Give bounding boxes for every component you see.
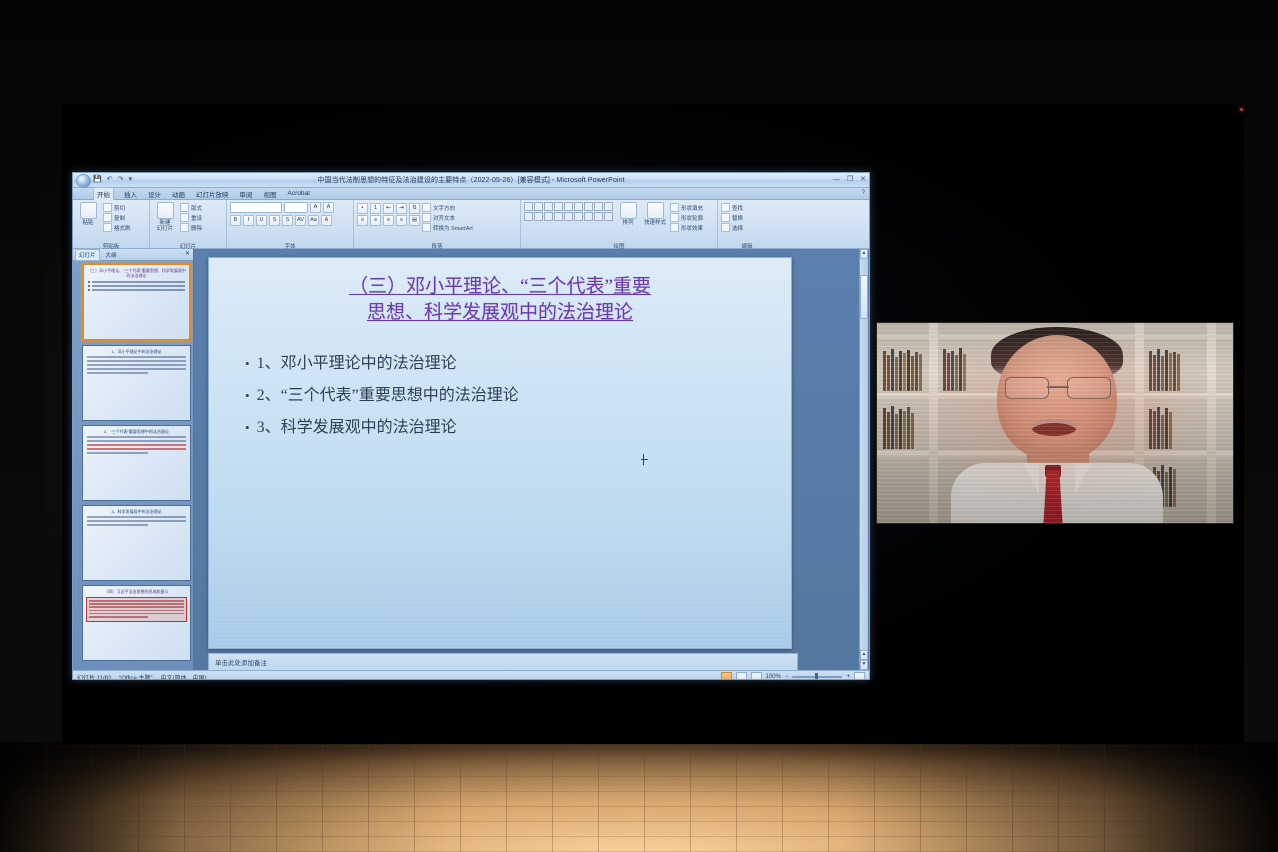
thumbnail-list[interactable]: 11 （三）邓小平理论、“三个代表”重要思想、科学发展观中的法治理论 12 1、… <box>73 260 193 670</box>
font-name-input[interactable] <box>230 202 282 213</box>
shape-curve-icon[interactable] <box>524 212 533 221</box>
text-cursor-icon <box>641 454 648 465</box>
powerpoint-window[interactable]: 💾 ↶ ↷ ▾ 中国当代法制思想的特征及法治建设的主要特点（2022-05-26… <box>72 172 870 680</box>
tab-design[interactable]: 设计 <box>147 189 162 199</box>
zoom-level-label: 100% <box>766 674 781 680</box>
slide-bullet-text: 1、邓小平理论中的法治理论 <box>257 354 457 374</box>
thumbnail-bullet <box>88 281 185 283</box>
cut-label: 剪切 <box>114 204 125 212</box>
window-controls[interactable]: — ❐ ✕ <box>833 174 866 185</box>
vertical-scrollbar[interactable]: ▲ ▲ ▼ <box>859 249 868 670</box>
glasses-left-lens <box>1005 377 1049 399</box>
bullet-dot-icon <box>88 281 90 283</box>
shape-freeform-icon[interactable] <box>534 212 543 221</box>
tab-view[interactable]: 视图 <box>263 189 278 199</box>
status-bar: 幻灯片 11/82 “Office 主题” 中文(简体，中国) 100% − + <box>73 670 869 680</box>
thumbnail-body <box>83 355 190 377</box>
align-text-icon <box>422 213 431 222</box>
ribbon-group-clipboard[interactable]: 粘贴 剪切 复制 <box>73 200 150 250</box>
next-slide-icon[interactable]: ▼ <box>860 660 868 670</box>
thumbnail-slide-13[interactable]: 13 2、“三个代表”重要思想中的法治理论 <box>82 425 191 501</box>
thumbnail-slide-14[interactable]: 14 3、科学发展观中的法治理论 <box>82 505 191 581</box>
zoom-slider[interactable] <box>792 676 842 678</box>
convert-smartart-label: 转换为 SmartArt <box>433 224 473 232</box>
thumbnail-title: （四）习近平法治思想的形成和意义 <box>83 586 190 595</box>
font-color-button[interactable]: A <box>321 215 332 226</box>
replace-label: 替换 <box>732 214 743 222</box>
paste-icon <box>80 202 97 219</box>
glasses-icon <box>1005 377 1111 397</box>
slide-title-line-2: 思想、科学发展观中的法治理论 <box>367 302 633 323</box>
shape-effects-icon <box>670 223 679 232</box>
convert-smartart-button[interactable]: 转换为 SmartArt <box>422 223 473 232</box>
brush-icon <box>103 223 112 232</box>
character-spacing-button[interactable]: AV <box>295 215 306 226</box>
shape-square-icon[interactable] <box>564 202 573 211</box>
columns-button[interactable]: ▤ <box>409 215 420 226</box>
thumbnail-slide-11[interactable]: 11 （三）邓小平理论、“三个代表”重要思想、科学发展观中的法治理论 <box>82 263 191 341</box>
shape-outline-button[interactable]: 形状轮廓 <box>670 213 703 222</box>
align-right-button[interactable]: ≡ <box>383 215 394 226</box>
reset-label: 重设 <box>191 214 202 222</box>
slide-bullet-3: • 3、科学发展观中的法治理论 <box>245 418 771 438</box>
shape-rounded-icon[interactable] <box>534 202 543 211</box>
quick-styles-label: 快速样式 <box>644 220 666 226</box>
ribbon-group-editing[interactable]: 查找 替换 选择 编辑 <box>718 200 776 250</box>
bullet-dot-icon: • <box>245 354 250 374</box>
slide-title-placeholder[interactable]: （三）邓小平理论、“三个代表”重要 思想、科学发展观中的法治理论 <box>235 274 765 326</box>
shape-callout-icon[interactable] <box>574 212 583 221</box>
close-button[interactable]: ✕ <box>860 174 866 185</box>
scroll-bottom-group[interactable]: ▲ ▼ <box>860 650 868 670</box>
bookshelf-upright <box>1207 323 1216 523</box>
shape-circle-icon[interactable] <box>574 202 583 211</box>
replace-icon <box>721 213 730 222</box>
scrollbar-thumb[interactable] <box>860 275 868 319</box>
tab-review[interactable]: 审阅 <box>239 189 254 199</box>
decrease-indent-button[interactable]: ⇤ <box>383 203 394 214</box>
normal-view-icon[interactable] <box>721 672 732 680</box>
shape-brace-icon[interactable] <box>544 212 553 221</box>
smartart-icon <box>422 223 431 232</box>
bookshelf-upright <box>929 323 938 523</box>
shape-star-icon[interactable] <box>554 212 563 221</box>
slide-edit-area[interactable]: （三）邓小平理论、“三个代表”重要 思想、科学发展观中的法治理论 • 1、邓小平… <box>194 249 869 670</box>
thumbnail-number: 11 <box>82 266 83 272</box>
arrange-button[interactable]: 排列 <box>616 202 640 226</box>
quick-styles-button[interactable]: 快速样式 <box>643 202 667 226</box>
shape-triangle-icon[interactable] <box>594 202 603 211</box>
shape-fill-label: 形状填充 <box>681 204 703 212</box>
new-slide-label: 新建幻灯片 <box>157 220 174 232</box>
slide-bullet-text: 2、“三个代表”重要思想中的法治理论 <box>257 386 519 406</box>
thumbnail-body <box>83 435 190 457</box>
text-direction-icon <box>422 203 431 212</box>
format-painter-button[interactable]: 格式刷 <box>103 223 131 232</box>
speaker-figure <box>969 331 1145 523</box>
delete-slide-button[interactable]: 删除 <box>180 223 202 232</box>
ribbon-group-drawing[interactable]: 排列 快速样式 形状填充 <box>521 200 718 250</box>
thumbnail-slide-15[interactable]: 15 （四）习近平法治思想的形成和意义 <box>82 585 191 661</box>
book-row <box>1149 347 1180 391</box>
minimize-button[interactable]: — <box>833 174 840 185</box>
layout-button[interactable]: 版式 <box>180 203 202 212</box>
slide-bullet-2: • 2、“三个代表”重要思想中的法治理论 <box>245 386 771 406</box>
copy-button[interactable]: 复制 <box>103 213 131 222</box>
status-bar-right[interactable]: 100% − + <box>721 672 865 680</box>
projector-indicator-dot <box>1240 108 1243 111</box>
slide-canvas[interactable]: （三）邓小平理论、“三个代表”重要 思想、科学发展观中的法治理论 • 1、邓小平… <box>208 257 792 649</box>
tab-slideshow[interactable]: 幻灯片放映 <box>195 189 230 199</box>
zoom-slider-knob[interactable] <box>815 673 818 680</box>
tab-home[interactable]: 开始 <box>93 187 114 200</box>
stage-scene: 💾 ↶ ↷ ▾ 中国当代法制思想的特征及法治建设的主要特点（2022-05-26… <box>0 0 1278 852</box>
thumbnail-title: 1、邓小平理论中的法治理论 <box>83 346 190 355</box>
thumbnail-title: 3、科学发展观中的法治理论 <box>83 506 190 515</box>
zoom-in-button[interactable]: + <box>846 674 850 680</box>
align-center-button[interactable]: ≡ <box>370 215 381 226</box>
close-panel-icon[interactable]: ✕ <box>185 250 190 257</box>
slide-body-placeholder[interactable]: • 1、邓小平理论中的法治理论 • 2、“三个代表”重要思想中的法治理论 • 3… <box>245 354 771 450</box>
thumbnail-bullet <box>88 289 185 291</box>
quick-styles-icon <box>647 202 664 219</box>
search-icon <box>721 203 730 212</box>
reading-view-icon[interactable] <box>751 672 762 680</box>
new-slide-button[interactable]: 新建幻灯片 <box>153 202 177 232</box>
align-text-label: 对齐文本 <box>433 214 455 222</box>
layout-icon <box>180 203 189 212</box>
text-direction-label: 文字方向 <box>433 204 455 212</box>
fit-slide-icon[interactable] <box>854 672 865 680</box>
ribbon-group-slides[interactable]: 新建幻灯片 版式 重设 <box>150 200 227 250</box>
paste-button[interactable]: 粘贴 <box>76 202 100 226</box>
restore-button[interactable]: ❐ <box>847 174 853 185</box>
paste-label: 粘贴 <box>82 220 93 226</box>
shape-line-icon[interactable] <box>544 202 553 211</box>
slide-title-line-1: （三）邓小平理论、“三个代表”重要 <box>349 276 651 297</box>
slide-bullet-text: 3、科学发展观中的法治理论 <box>257 418 457 438</box>
numbering-button[interactable]: 1 <box>370 203 381 214</box>
glasses-bridge <box>1047 386 1069 388</box>
select-icon <box>721 223 730 232</box>
book-row <box>883 347 922 391</box>
thumbnail-title: 2、“三个代表”重要思想中的法治理论 <box>83 426 190 435</box>
decrease-font-size-button[interactable]: A <box>323 202 334 213</box>
shape-more-icon[interactable] <box>584 202 593 211</box>
stage-floor <box>0 742 1278 852</box>
bullet-dot-icon: • <box>245 386 250 406</box>
help-icon[interactable]: ? <box>862 190 865 196</box>
strikethrough-button[interactable]: S <box>269 215 280 226</box>
work-area: 幻灯片 大纲 ✕ 11 （三）邓小平理论、“三个代表”重要思想、科学发展观中的法… <box>73 249 869 670</box>
tab-insert[interactable]: 插入 <box>123 189 138 199</box>
theme-name: “Office 主题” <box>119 673 152 681</box>
floor-vignette <box>0 742 1278 852</box>
shape-arrow-icon[interactable] <box>554 202 563 211</box>
shape-outline-icon <box>670 213 679 222</box>
thumbnail-title: （三）邓小平理论、“三个代表”重要思想、科学发展观中的法治理论 <box>84 265 189 279</box>
underline-button[interactable]: U <box>256 215 267 226</box>
shirt-collar-right <box>1075 463 1091 495</box>
remote-speaker-video <box>876 322 1234 524</box>
layout-label: 版式 <box>191 204 202 212</box>
projection-screen: 💾 ↶ ↷ ▾ 中国当代法制思想的特征及法治建设的主要特点（2022-05-26… <box>62 104 1244 744</box>
tab-acrobat[interactable]: Acrobat <box>287 190 311 197</box>
increase-font-size-button[interactable]: A <box>310 202 321 213</box>
shape-flow-icon[interactable] <box>584 212 593 221</box>
shape-pentagon-icon[interactable] <box>604 202 613 211</box>
glasses-right-lens <box>1067 377 1111 399</box>
shape-banner-icon[interactable] <box>564 212 573 221</box>
shape-rect-icon[interactable] <box>524 202 533 211</box>
font-size-input[interactable] <box>284 202 308 213</box>
delete-icon <box>180 223 189 232</box>
window-title: 中国当代法制思想的特征及法治建设的主要特点（2022-05-26）[兼容模式] … <box>73 175 869 185</box>
language-indicator[interactable]: 中文(简体，中国) <box>160 673 206 681</box>
thumbnail-bullet <box>88 285 185 287</box>
new-slide-icon <box>157 202 174 219</box>
cut-button[interactable]: 剪切 <box>103 203 131 212</box>
scissors-icon <box>103 203 112 212</box>
shape-effects-label: 形状效果 <box>681 224 703 232</box>
slide-bullet-1: • 1、邓小平理论中的法治理论 <box>245 354 771 374</box>
format-painter-label: 格式刷 <box>114 224 131 232</box>
ribbon-tab-strip[interactable]: 开始 插入 设计 动画 幻灯片放映 审阅 视图 Acrobat ? <box>73 188 869 200</box>
arrange-icon <box>620 202 637 219</box>
shape-fill-button[interactable]: 形状填充 <box>670 203 703 212</box>
tab-animations[interactable]: 动画 <box>171 189 186 199</box>
bullets-button[interactable]: • <box>357 203 368 214</box>
italic-button[interactable]: I <box>243 215 254 226</box>
find-button[interactable]: 查找 <box>721 203 773 212</box>
previous-slide-icon[interactable]: ▲ <box>860 650 868 660</box>
bullet-dot-icon: • <box>245 418 250 438</box>
shape-fill-icon <box>670 203 679 212</box>
select-button[interactable]: 选择 <box>721 223 773 232</box>
shapes-gallery[interactable] <box>524 202 613 221</box>
arrange-label: 排列 <box>622 220 633 226</box>
book-row <box>883 405 914 449</box>
reset-icon <box>180 213 189 222</box>
text-direction-button[interactable]: 文字方向 <box>422 203 473 212</box>
thumbnail-body <box>83 515 190 529</box>
replace-button[interactable]: 替换 <box>721 213 773 222</box>
zoom-out-button[interactable]: − <box>785 674 789 680</box>
panel-tab-slides[interactable]: 幻灯片 <box>75 249 100 261</box>
thumbnail-red-text-box <box>86 597 187 622</box>
find-label: 查找 <box>732 204 743 212</box>
shape-misc-icon[interactable] <box>594 212 603 221</box>
copy-label: 复制 <box>114 214 125 222</box>
thumbnail-slide-12[interactable]: 12 1、邓小平理论中的法治理论 <box>82 345 191 421</box>
align-text-button[interactable]: 对齐文本 <box>422 213 473 222</box>
bold-button[interactable]: B <box>230 215 241 226</box>
shape-scroll-icon[interactable] <box>604 212 613 221</box>
copy-icon <box>103 213 112 222</box>
reset-button[interactable]: 重设 <box>180 213 202 222</box>
change-case-button[interactable]: Aa <box>308 215 319 226</box>
bullet-dot-icon <box>88 285 90 287</box>
slide-counter: 幻灯片 11/82 <box>77 673 111 681</box>
book-row <box>1149 405 1172 449</box>
line-spacing-button[interactable]: ⇅ <box>409 203 420 214</box>
align-left-button[interactable]: ≡ <box>357 215 368 226</box>
ribbon-group-paragraph[interactable]: • 1 ⇤ ⇥ ⇅ ≡ ≡ ≡ ≡ ▤ <box>354 200 521 250</box>
shadow-button[interactable]: S <box>282 215 293 226</box>
ribbon[interactable]: 粘贴 剪切 复制 <box>73 200 869 249</box>
delete-label: 删除 <box>191 224 202 232</box>
title-bar: 💾 ↶ ↷ ▾ 中国当代法制思想的特征及法治建设的主要特点（2022-05-26… <box>73 173 869 188</box>
book-row <box>943 347 966 391</box>
scroll-up-icon[interactable]: ▲ <box>860 249 868 259</box>
select-label: 选择 <box>732 224 743 232</box>
shape-effects-button[interactable]: 形状效果 <box>670 223 703 232</box>
panel-tab-outline[interactable]: 大纲 <box>102 249 121 261</box>
increase-indent-button[interactable]: ⇥ <box>396 203 407 214</box>
ribbon-group-font[interactable]: A A B I U S S AV Aa A 字体 <box>227 200 354 250</box>
bullet-dot-icon <box>88 289 90 291</box>
justify-button[interactable]: ≡ <box>396 215 407 226</box>
speaker-mouth <box>1031 419 1077 436</box>
shape-outline-label: 形状轮廓 <box>681 214 703 222</box>
slide-thumbnail-panel[interactable]: 幻灯片 大纲 ✕ 11 （三）邓小平理论、“三个代表”重要思想、科学发展观中的法… <box>73 249 194 670</box>
sorter-view-icon[interactable] <box>736 672 747 680</box>
shirt-collar-left <box>1023 463 1039 495</box>
